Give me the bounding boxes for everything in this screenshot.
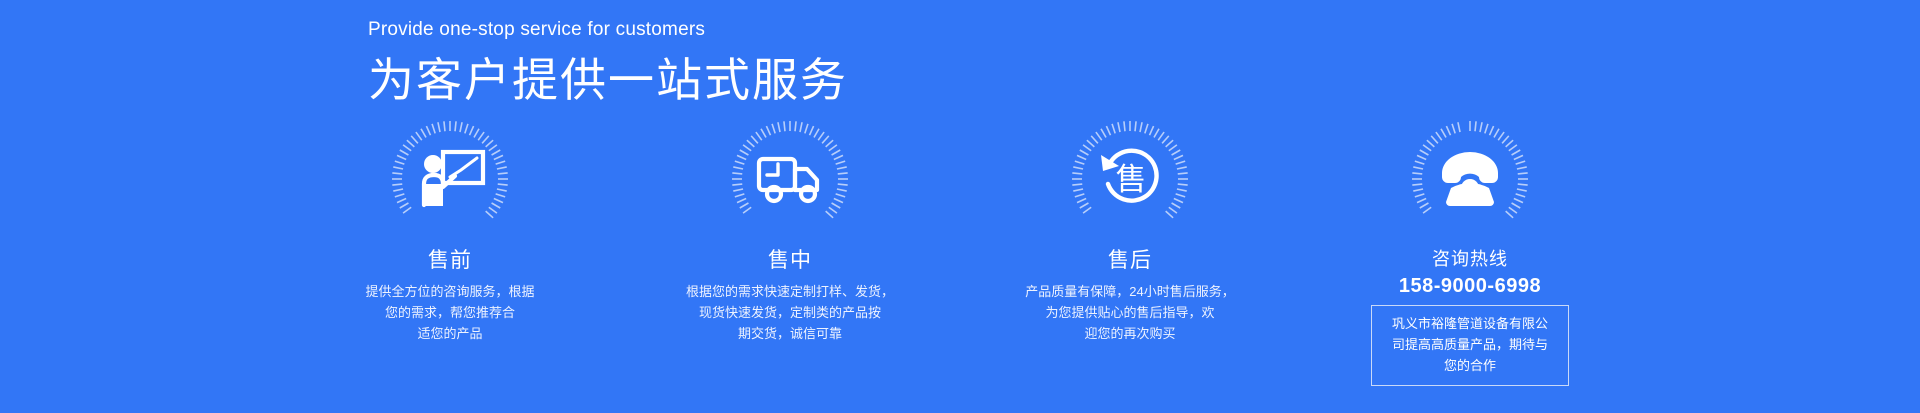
service-column-aftersale[interactable]: 售 售后 产品质量有保障，24小时售后服务， 为您提供贴心的售后指导，欢 迎您的… <box>980 118 1280 344</box>
promo-line-1: 巩义市裕隆管道设备有限公 <box>1382 313 1558 334</box>
service-column-hotline[interactable]: 咨询热线 158-9000-6998 巩义市裕隆管道设备有限公 司提高高质量产品… <box>1320 118 1620 386</box>
after-sale-return-arrow-icon: 售 <box>1093 142 1167 216</box>
service-column-insale[interactable]: 售中 根据您的需求快速定制打样、发货， 现货快速发货，定制类的产品按 期交货，诚… <box>640 118 940 344</box>
promo-line-2: 司提高高质量产品，期待与 <box>1382 334 1558 355</box>
aftersale-desc-line-3: 迎您的再次购买 <box>1005 323 1255 344</box>
insale-desc-line-2: 现货快速发货，定制类的产品按 <box>665 302 915 323</box>
service-columns: 售前 提供全方位的咨询服务，根据 您的需求，帮您推荐合 适您的产品 <box>300 118 1620 398</box>
banner-eyebrow: Provide one-stop service for customers <box>368 18 1268 42</box>
presale-desc-line-1: 提供全方位的咨询服务，根据 <box>325 281 575 302</box>
company-promo-box: 巩义市裕隆管道设备有限公 司提高高质量产品，期待与 您的合作 <box>1371 305 1569 386</box>
presale-description: 提供全方位的咨询服务，根据 您的需求，帮您推荐合 适您的产品 <box>325 281 575 344</box>
delivery-truck-icon <box>753 142 827 216</box>
svg-text:售: 售 <box>1116 162 1147 197</box>
promo-line-3: 您的合作 <box>1382 355 1558 376</box>
presale-title: 售前 <box>428 246 472 276</box>
service-column-presale[interactable]: 售前 提供全方位的咨询服务，根据 您的需求，帮您推荐合 适您的产品 <box>300 118 600 344</box>
aftersale-description: 产品质量有保障，24小时售后服务， 为您提供贴心的售后指导，欢 迎您的再次购买 <box>1005 281 1255 344</box>
presenter-whiteboard-icon <box>413 142 487 216</box>
aftersale-desc-line-2: 为您提供贴心的售后指导，欢 <box>1005 302 1255 323</box>
presale-desc-line-3: 适您的产品 <box>325 323 575 344</box>
presale-badge <box>389 118 511 240</box>
aftersale-title: 售后 <box>1108 246 1152 276</box>
telephone-icon <box>1433 142 1507 216</box>
insale-badge <box>729 118 851 240</box>
insale-description: 根据您的需求快速定制打样、发货， 现货快速发货，定制类的产品按 期交货，诚信可靠 <box>665 281 915 344</box>
presale-desc-line-2: 您的需求，帮您推荐合 <box>325 302 575 323</box>
hotline-badge <box>1409 118 1531 240</box>
aftersale-desc-line-1: 产品质量有保障，24小时售后服务， <box>1005 281 1255 302</box>
banner-heading: Provide one-stop service for customers 为… <box>368 18 1268 109</box>
insale-desc-line-3: 期交货，诚信可靠 <box>665 323 915 344</box>
hotline-number[interactable]: 158-9000-6998 <box>1399 273 1541 299</box>
aftersale-badge: 售 <box>1069 118 1191 240</box>
insale-title: 售中 <box>768 246 812 276</box>
service-banner: Provide one-stop service for customers 为… <box>0 0 1920 413</box>
banner-headline: 为客户提供一站式服务 <box>368 51 1268 109</box>
hotline-title: 咨询热线 <box>1432 246 1508 272</box>
insale-desc-line-1: 根据您的需求快速定制打样、发货， <box>665 281 915 302</box>
